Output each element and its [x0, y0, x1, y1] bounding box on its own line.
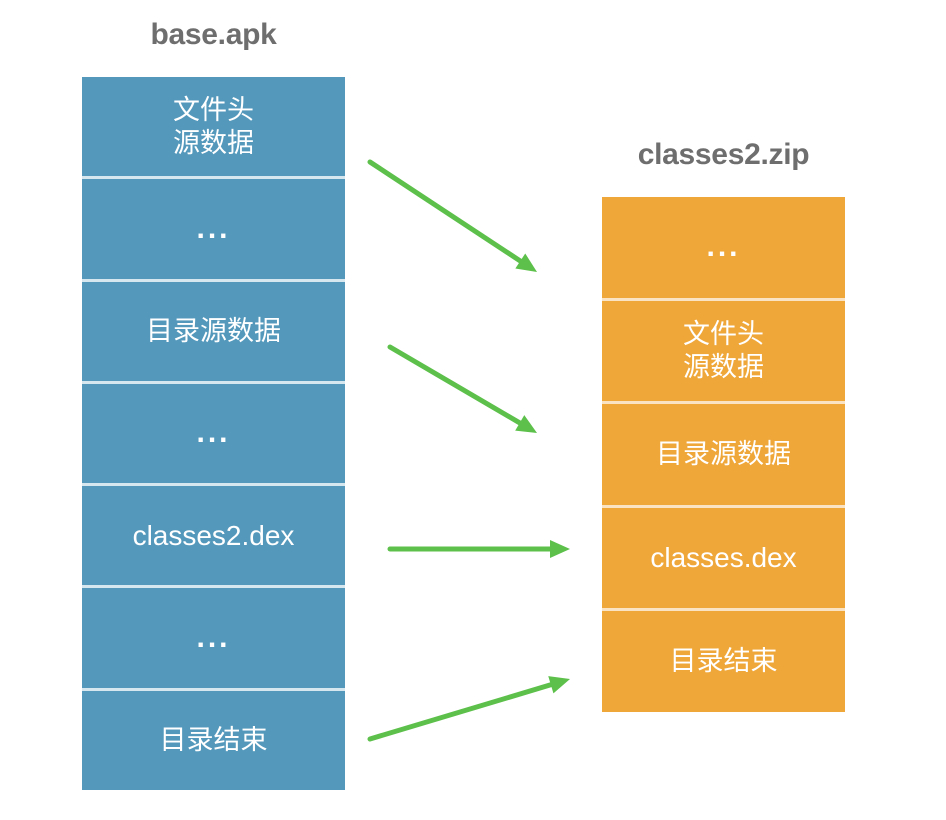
cell-apk-ellipsis-3: ...	[82, 585, 345, 687]
cell-apk-ellipsis-2: ...	[82, 381, 345, 483]
arrow-classes2dex-to-classesdex	[390, 540, 570, 558]
cell-zip-ellipsis-1: ...	[602, 197, 845, 298]
cell-apk-directory-metadata: 目录源数据	[82, 279, 345, 381]
column-base-apk: 文件头 源数据 ... 目录源数据 ... classes2.dex ... 目…	[82, 77, 345, 790]
cell-apk-directory-end: 目录结束	[82, 688, 345, 790]
cell-apk-classes2-dex: classes2.dex	[82, 483, 345, 585]
arrow-header-to-ellipsis	[370, 162, 537, 272]
column-classes2-zip: ... 文件头 源数据 目录源数据 classes.dex 目录结束	[602, 197, 845, 712]
cell-zip-classes-dex: classes.dex	[602, 505, 845, 609]
column-title-base-apk: base.apk	[82, 18, 345, 52]
cell-apk-file-header-metadata: 文件头 源数据	[82, 77, 345, 176]
arrow-dirmeta-to-dirmeta	[390, 347, 537, 433]
arrow-dirend-to-dirend	[370, 676, 570, 739]
cell-zip-file-header-metadata: 文件头 源数据	[602, 298, 845, 402]
column-title-classes2-zip: classes2.zip	[602, 138, 845, 172]
diagram-canvas: base.apk 文件头 源数据 ... 目录源数据 ... classes2.…	[0, 0, 946, 820]
cell-apk-ellipsis-1: ...	[82, 176, 345, 278]
cell-zip-directory-end: 目录结束	[602, 608, 845, 712]
cell-zip-directory-metadata: 目录源数据	[602, 401, 845, 505]
